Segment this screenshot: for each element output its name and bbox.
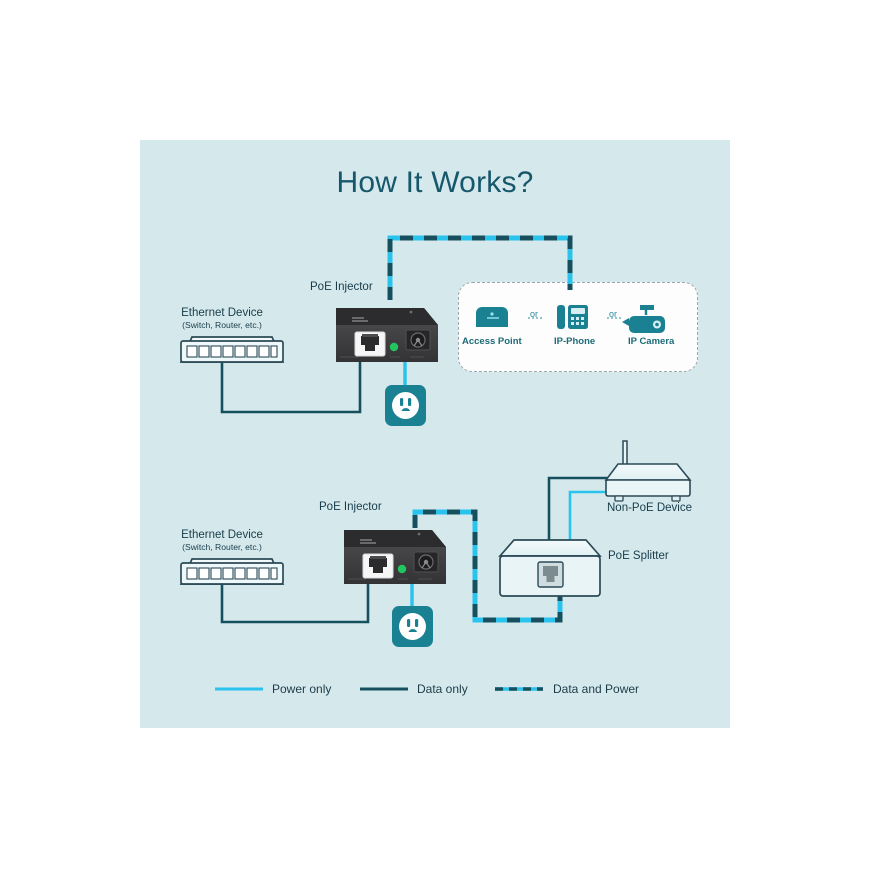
ip-phone-icon [557, 305, 588, 329]
line-splitter-data [549, 478, 612, 540]
legend-label-data-and-power: Data and Power [553, 682, 639, 696]
ethernet-switch-bottom [181, 559, 283, 584]
power-outlet-top [385, 385, 426, 426]
ethernet-switch-top [181, 337, 283, 362]
label-ethernet-device-top-sub: (Switch, Router, etc.) [152, 320, 292, 330]
label-ethernet-device-bottom: Ethernet Device [152, 529, 292, 541]
label-poe-splitter: PoE Splitter [608, 550, 669, 562]
line-splitter-power [570, 492, 612, 540]
poe-injector-top [336, 308, 438, 362]
label-ethernet-device-top: Ethernet Device [152, 307, 292, 319]
legend-label-power-only: Power only [272, 682, 331, 696]
label-poe-injector-bottom: PoE Injector [319, 501, 382, 513]
label-ip-camera: IP Camera [628, 336, 674, 347]
line-top-data-power [390, 238, 570, 300]
diagram-canvas: How It Works? [0, 0, 870, 870]
label-ethernet-device-bottom-sub: (Switch, Router, etc.) [152, 542, 292, 552]
label-or-1: or [530, 309, 538, 319]
power-outlet-bottom [392, 606, 433, 647]
access-point-icon [476, 307, 508, 327]
label-access-point: Access Point [462, 336, 522, 347]
label-poe-injector-top: PoE Injector [310, 281, 373, 293]
label-ip-phone: IP-Phone [554, 336, 595, 347]
poe-injector-bottom [344, 530, 446, 584]
line-bottom-data [222, 584, 368, 622]
ip-camera-icon [622, 305, 665, 333]
non-poe-device [606, 441, 690, 501]
line-top-data [222, 362, 360, 412]
poe-splitter [500, 540, 600, 596]
legend-label-data-only: Data only [417, 682, 468, 696]
diagram-graphics [0, 0, 870, 870]
label-or-2: or [609, 309, 617, 319]
label-non-poe-device: Non-PoE Device [607, 502, 692, 514]
